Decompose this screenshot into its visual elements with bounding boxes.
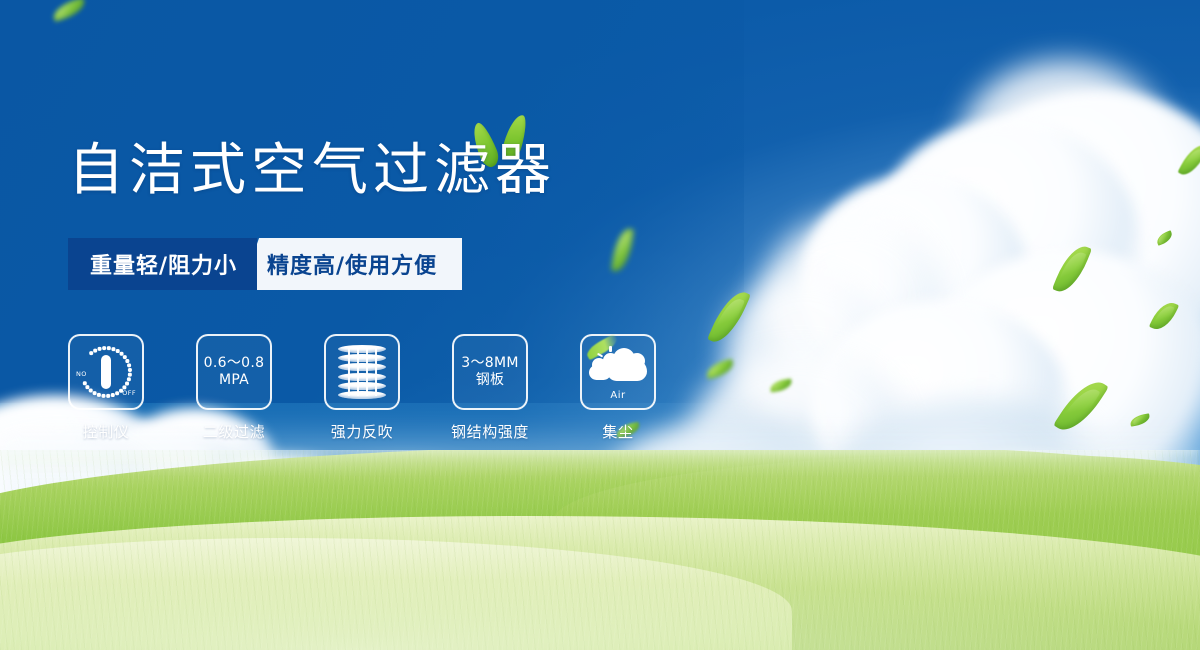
feature-label-controller: 控制仪 <box>83 421 130 442</box>
feature-item-dust[interactable]: Air 集尘 <box>580 334 656 442</box>
subtitle-band: 重量轻/阻力小 精度高/使用方便 <box>68 238 462 290</box>
feature-label-pressure: 二级过滤 <box>203 421 265 442</box>
feature-item-steel[interactable]: 3～8MM 钢板 钢结构强度 <box>452 334 528 442</box>
pressure-unit: MPA <box>204 372 265 390</box>
feature-item-pressure[interactable]: 0.6～0.8 MPA 二级过滤 <box>196 334 272 442</box>
feature-item-blowback[interactable]: 强力反吹 <box>324 334 400 442</box>
gauge-off-label: OFF <box>122 389 136 397</box>
grass-field <box>0 450 1200 650</box>
gauge-icon: NO OFF <box>68 334 144 410</box>
feature-item-controller[interactable]: NO OFF 控制仪 <box>68 334 144 442</box>
pressure-icon: 0.6～0.8 MPA <box>196 334 272 410</box>
gauge-no-label: NO <box>76 370 87 378</box>
steel-material: 钢板 <box>461 372 518 390</box>
air-label: Air <box>589 390 647 401</box>
product-banner: 自洁式空气过滤器 重量轻/阻力小 精度高/使用方便 NO OFF 控制仪 0.6… <box>0 0 1200 650</box>
feature-label-blowback: 强力反吹 <box>331 421 393 442</box>
feature-label-steel: 钢结构强度 <box>451 421 529 442</box>
filter-stack-icon <box>324 334 400 410</box>
subtitle-left: 重量轻/阻力小 <box>68 238 257 290</box>
subtitle-right: 精度高/使用方便 <box>241 238 462 290</box>
steel-plate-icon: 3～8MM 钢板 <box>452 334 528 410</box>
air-cloud-icon: Air <box>580 334 656 410</box>
page-title: 自洁式空气过滤器 <box>68 140 556 202</box>
pressure-value: 0.6～0.8 <box>204 355 265 373</box>
feature-label-dust: 集尘 <box>602 421 633 442</box>
feature-list: NO OFF 控制仪 0.6～0.8 MPA 二级过滤 强力反吹 <box>68 334 656 442</box>
steel-thickness: 3～8MM <box>461 355 518 373</box>
